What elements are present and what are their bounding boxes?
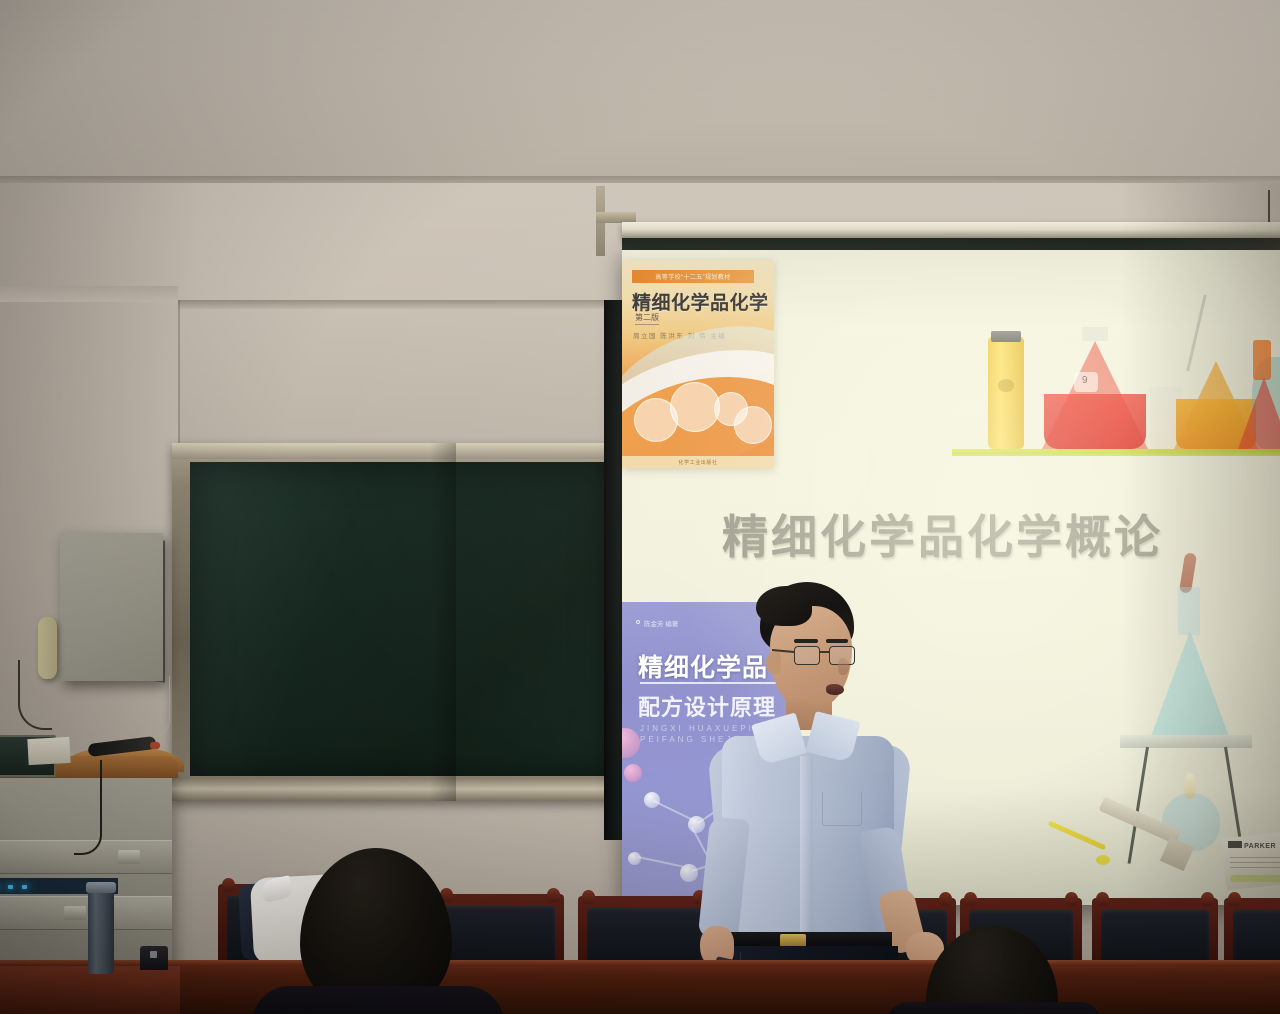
flask-red-neck <box>1082 327 1108 341</box>
lecturer[interactable] <box>660 560 980 1014</box>
chair-5-knob-right <box>1065 892 1078 906</box>
chair-1-knob-left <box>222 878 235 892</box>
chair-2-knob-right <box>547 888 560 902</box>
shirt-chest-pocket <box>822 792 862 826</box>
drawer-handle-top[interactable] <box>118 850 140 864</box>
electrical-box-wire <box>148 676 170 738</box>
podium-cable <box>74 760 102 855</box>
drawer-handle-bottom[interactable] <box>64 906 86 920</box>
desk-device-indicator <box>150 951 157 958</box>
reagent-bottle-cap <box>991 331 1021 342</box>
textbook-banner: 高等学校“十二五”规划教材 <box>632 270 754 283</box>
wall-panel-trim <box>0 286 178 302</box>
thermos-bottle[interactable] <box>88 888 114 974</box>
led-indicator-2 <box>8 885 13 889</box>
chair-6-knob-right <box>1201 892 1214 906</box>
textbook-banner-text: 高等学校“十二五”规划教材 <box>655 272 730 281</box>
chair-3-knob-left <box>582 890 595 904</box>
textbook-title: 精细化学品化学 <box>632 288 769 315</box>
telephone-cord <box>18 660 52 730</box>
front-desk-edge <box>0 960 1280 966</box>
glasses-lens-left <box>794 646 820 665</box>
lecturer-mouth <box>826 684 844 695</box>
slide-main-title: 精细化学品化学概论 <box>722 501 1163 567</box>
cover-bubble-2 <box>670 382 720 432</box>
podium-drawer-bottom[interactable] <box>0 896 172 930</box>
textbook-publisher-text: 化学工业出版社 <box>678 459 717 466</box>
lecturer-nose <box>838 658 849 675</box>
reagent-bottle-label <box>998 379 1014 392</box>
cover-bubble-4 <box>734 406 772 444</box>
ceiling <box>0 0 1280 185</box>
lecturer-brow-left <box>794 639 818 643</box>
lecturer-ear <box>766 652 781 674</box>
lecturer-hair-fringe <box>756 586 812 626</box>
podium-papers <box>27 737 70 765</box>
audience-shoulders-1 <box>252 986 504 1014</box>
thermos-bottle-cap <box>86 882 116 893</box>
microphone-tip <box>150 742 160 749</box>
chalkboard-top-rail <box>172 443 630 459</box>
desk-device[interactable] <box>140 946 168 970</box>
molecule-node-pink-1 <box>622 728 640 758</box>
chalkboard <box>172 443 630 801</box>
chalkboard-gloss <box>190 462 614 776</box>
shirt-button-placket <box>800 756 813 942</box>
classroom-photo: 高等学校“十二五”规划教材 精细化学品化学 第二版 周立国 陈洪东 刘 伟 主编… <box>0 0 1280 1014</box>
bullet-dot-icon <box>636 620 640 624</box>
flask-red-label: 9 <box>1074 372 1098 392</box>
chair-2-back-pad <box>445 906 555 968</box>
textbook-cover-front: 高等学校“十二五”规划教材 精细化学品化学 第二版 周立国 陈洪东 刘 伟 主编… <box>622 260 774 468</box>
chair-6-knob-left <box>1096 892 1109 906</box>
molecule-node-6 <box>628 852 641 865</box>
wall-electrical-cabinet[interactable] <box>60 533 163 681</box>
textbook-edition: 第二版 <box>635 312 659 325</box>
glasses-bridge <box>820 651 829 653</box>
led-indicator-3 <box>22 885 27 889</box>
chalkboard-right-shadow <box>430 443 456 801</box>
chalkboard-chalk-tray <box>172 779 630 801</box>
reagent-bottle-yellow <box>988 337 1024 449</box>
wall-seam-left <box>178 300 180 450</box>
wall-panel-upper <box>178 309 630 449</box>
lecturer-brow-right <box>826 639 848 643</box>
ceiling-edge <box>0 176 1280 183</box>
textbook-publisher: 化学工业出版社 <box>622 456 774 468</box>
chair-7-knob-left <box>1228 892 1241 906</box>
wall-panel-top-edge <box>178 300 630 309</box>
audience-shoulders-2 <box>886 1002 1102 1014</box>
molecule-node-1 <box>644 792 660 808</box>
pipette-bulb <box>1096 855 1110 865</box>
molecule-node-pink-2 <box>624 764 642 782</box>
wall-shadow-right <box>1120 183 1280 963</box>
